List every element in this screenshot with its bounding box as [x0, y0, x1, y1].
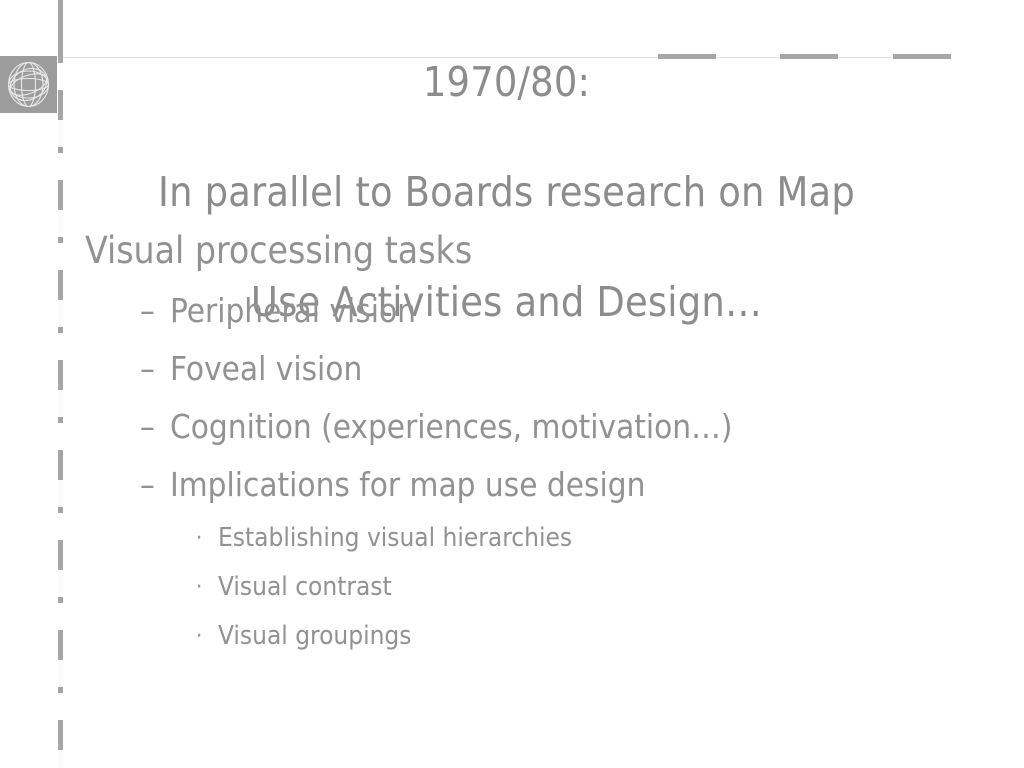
outline-heading: Visual processing tasks	[85, 222, 985, 280]
outline-subitem-label: Establishing visual hierarchies	[196, 514, 572, 563]
globe-icon	[0, 56, 57, 113]
slide-body: Visual processing tasks – Peripheral vis…	[85, 222, 985, 661]
outline-item-1: – Foveal vision	[85, 340, 985, 398]
outline-item-0: – Peripheral vision	[85, 282, 985, 340]
title-line-2: In parallel to Boards research on Map	[63, 165, 950, 220]
bullet-dot-icon: ·	[196, 612, 202, 661]
slide-canvas: 1970/80: In parallel to Boards research …	[0, 0, 1024, 768]
outline-item-label: Implications for map use design	[140, 456, 645, 514]
outline-item-label: Cognition (experiences, motivation…)	[140, 398, 732, 456]
bullet-dot-icon: ·	[196, 563, 202, 612]
bullet-dash-icon: –	[140, 456, 155, 514]
bullet-dash-icon: –	[140, 282, 155, 340]
outline-subitem-label: Visual groupings	[196, 612, 411, 661]
outline-subitem-label: Visual contrast	[196, 563, 392, 612]
outline-subitem-0: · Establishing visual hierarchies	[85, 514, 985, 563]
globe-logo-badge	[0, 56, 57, 113]
outline-subitem-1: · Visual contrast	[85, 563, 985, 612]
bullet-dash-icon: –	[140, 340, 155, 398]
outline-item-2: – Cognition (experiences, motivation…)	[85, 398, 985, 456]
outline-item-label: Peripheral vision	[140, 282, 416, 340]
outline-item-label: Foveal vision	[140, 340, 362, 398]
bullet-dash-icon: –	[140, 398, 155, 456]
outline-subitem-2: · Visual groupings	[85, 612, 985, 661]
title-line-1: 1970/80:	[63, 55, 950, 110]
outline-item-3: – Implications for map use design	[85, 456, 985, 514]
bullet-dot-icon: ·	[196, 514, 202, 563]
